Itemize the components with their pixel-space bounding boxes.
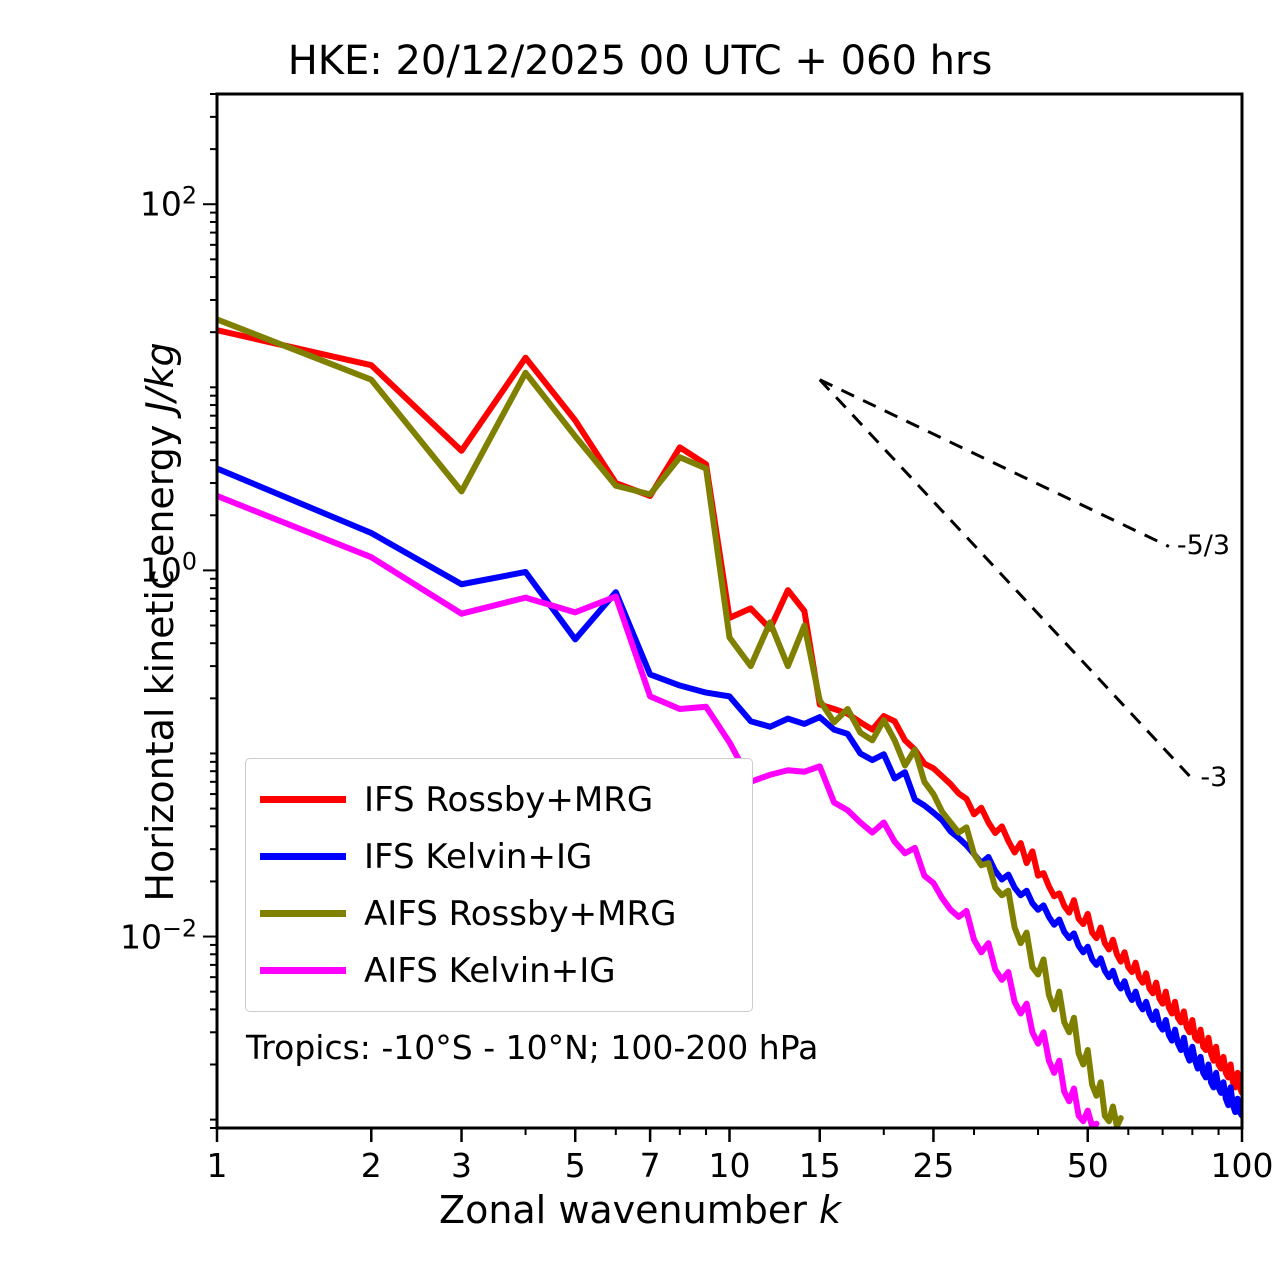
x-tick-label: 2 xyxy=(361,1146,382,1185)
y-axis-label-units: J/kg xyxy=(138,342,182,412)
y-tick-label: 10−2 xyxy=(120,917,197,956)
y-tick-mantissa: 10 xyxy=(140,551,182,590)
legend-color-swatch xyxy=(260,967,346,974)
x-axis-label: Zonal wavenumber k xyxy=(0,1188,1280,1232)
x-tick-label: 50 xyxy=(1067,1146,1109,1185)
slope-label-minus-three: -3 xyxy=(1200,762,1227,793)
y-axis-label: Horizontal kinetic energy J/kg xyxy=(138,222,182,1022)
legend-item-label: AIFS Rossby+MRG xyxy=(364,894,676,934)
x-tick-label: 10 xyxy=(709,1146,751,1185)
y-tick-label: 102 xyxy=(140,185,197,224)
legend[interactable]: IFS Rossby+MRGIFS Kelvin+IGAIFS Rossby+M… xyxy=(245,758,753,1012)
figure-canvas: HKE: 20/12/2025 00 UTC + 060 hrs Zonal w… xyxy=(0,0,1280,1288)
legend-color-swatch xyxy=(260,853,346,860)
slope-label-five-thirds: -5/3 xyxy=(1177,530,1230,561)
legend-item[interactable]: IFS Rossby+MRG xyxy=(260,771,736,828)
y-tick-mantissa: 10 xyxy=(140,185,182,224)
x-axis-label-symbol: k xyxy=(819,1188,841,1232)
legend-color-swatch xyxy=(260,796,346,803)
legend-item-label: IFS Rossby+MRG xyxy=(364,780,653,820)
region-annotation: Tropics: -10°S - 10°N; 100-200 hPa xyxy=(246,1028,818,1067)
legend-item-label: IFS Kelvin+IG xyxy=(364,837,592,877)
legend-item-label: AIFS Kelvin+IG xyxy=(364,951,616,991)
x-tick-label: 3 xyxy=(451,1146,472,1185)
x-tick-label: 25 xyxy=(912,1146,954,1185)
x-tick-label: 7 xyxy=(640,1146,661,1185)
legend-item[interactable]: AIFS Kelvin+IG xyxy=(260,942,736,999)
x-axis-label-main: Zonal wavenumber xyxy=(439,1188,819,1232)
x-tick-label: 15 xyxy=(799,1146,841,1185)
y-tick-exponent: −2 xyxy=(162,914,197,942)
legend-item[interactable]: IFS Kelvin+IG xyxy=(260,828,736,885)
y-tick-exponent: 2 xyxy=(182,182,197,210)
x-tick-label: 1 xyxy=(207,1146,228,1185)
y-tick-mantissa: 10 xyxy=(120,917,162,956)
legend-color-swatch xyxy=(260,910,346,917)
y-axis-label-main: Horizontal kinetic energy xyxy=(138,413,182,902)
legend-item[interactable]: AIFS Rossby+MRG xyxy=(260,885,736,942)
y-tick-label: 100 xyxy=(140,551,197,590)
x-tick-label: 100 xyxy=(1211,1146,1274,1185)
y-tick-exponent: 0 xyxy=(182,548,197,576)
x-tick-label: 5 xyxy=(565,1146,586,1185)
